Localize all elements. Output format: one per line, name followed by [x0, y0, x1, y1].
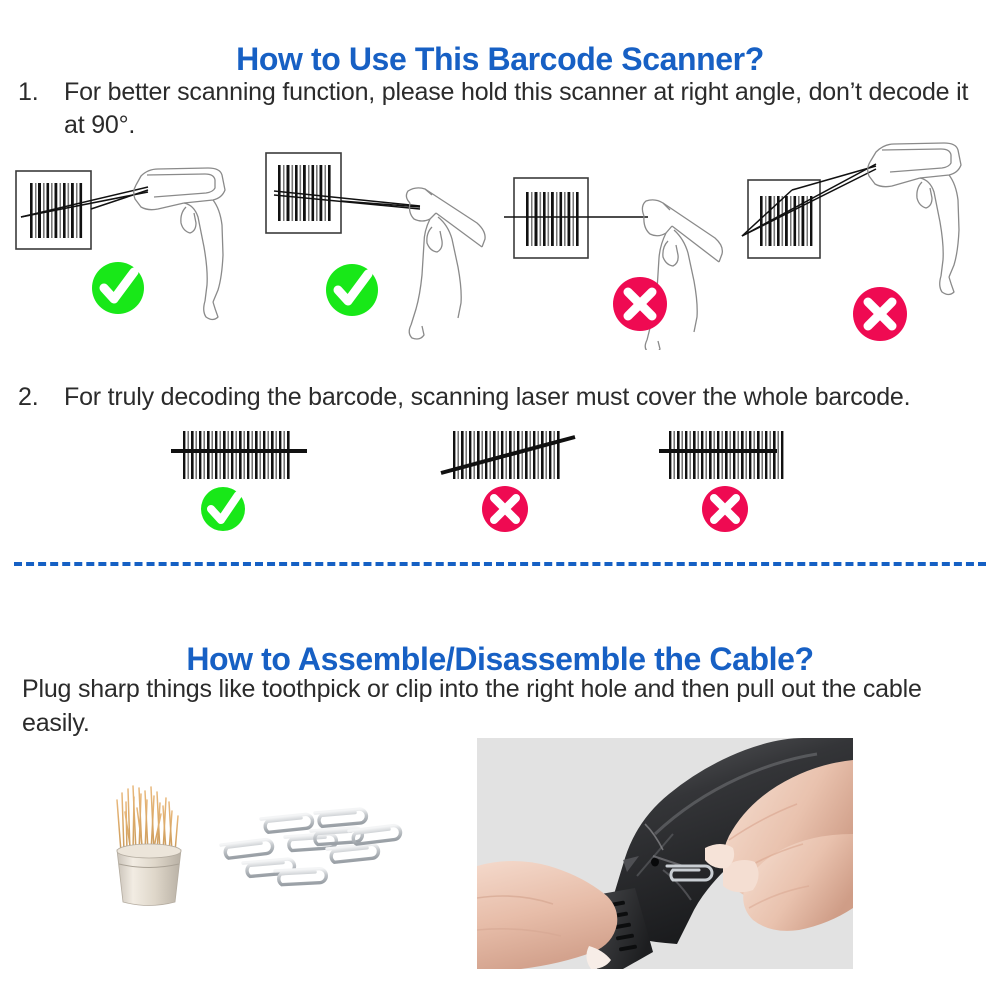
figure-barcode-partial-laser	[655, 425, 835, 535]
instruction-step-1: 1. For better scanning function, please …	[18, 76, 983, 142]
barcode-bars	[669, 431, 783, 479]
barcode-bars	[183, 431, 290, 479]
verdict-badge-bad	[853, 287, 907, 341]
figure-scanner-straight-on-barcode	[500, 160, 750, 350]
step-2-number: 2.	[18, 381, 62, 414]
hands-inserting-clip-into-scanner-photo	[477, 738, 853, 969]
barcode-scanner-outline	[406, 188, 485, 339]
figure-scanner-angled-left-barcode	[8, 145, 253, 345]
barcode-scanner-outline	[642, 200, 722, 350]
verdict-badge-bad	[702, 486, 748, 532]
verdict-badge-ok	[201, 487, 245, 531]
page-root: How to Use This Barcode Scanner? 1. For …	[0, 0, 1000, 1000]
figure-barcode-diagonal-laser	[425, 425, 605, 535]
step-1-number: 1.	[18, 76, 62, 109]
barcode-frame	[748, 180, 820, 258]
toothpick-cup	[117, 844, 181, 906]
section1-title: How to Use This Barcode Scanner?	[0, 41, 1000, 78]
section-divider	[14, 562, 986, 566]
figure-scanner-angled-right-barcode	[252, 143, 497, 348]
verdict-badge-ok	[326, 264, 378, 316]
step-2-text: For truly decoding the barcode, scanning…	[64, 381, 993, 414]
step-1-text: For better scanning function, please hol…	[64, 76, 983, 142]
figure-scanner-steep-angle-barcode	[730, 138, 995, 343]
paper-clips-photo	[215, 805, 410, 900]
paper-clip-pile	[221, 809, 401, 885]
toothpick-bundle	[117, 786, 178, 852]
toothpicks-in-cup-photo	[95, 778, 205, 908]
verdict-badge-ok	[92, 262, 144, 314]
instruction-step-2: 2. For truly decoding the barcode, scann…	[18, 381, 993, 414]
figure-barcode-full-horizontal-laser	[155, 425, 335, 535]
verdict-badge-bad	[613, 277, 667, 331]
verdict-badge-bad	[482, 486, 528, 532]
barcode-scanner-outline	[868, 143, 961, 295]
section2-paragraph: Plug sharp things like toothpick or clip…	[22, 672, 982, 740]
